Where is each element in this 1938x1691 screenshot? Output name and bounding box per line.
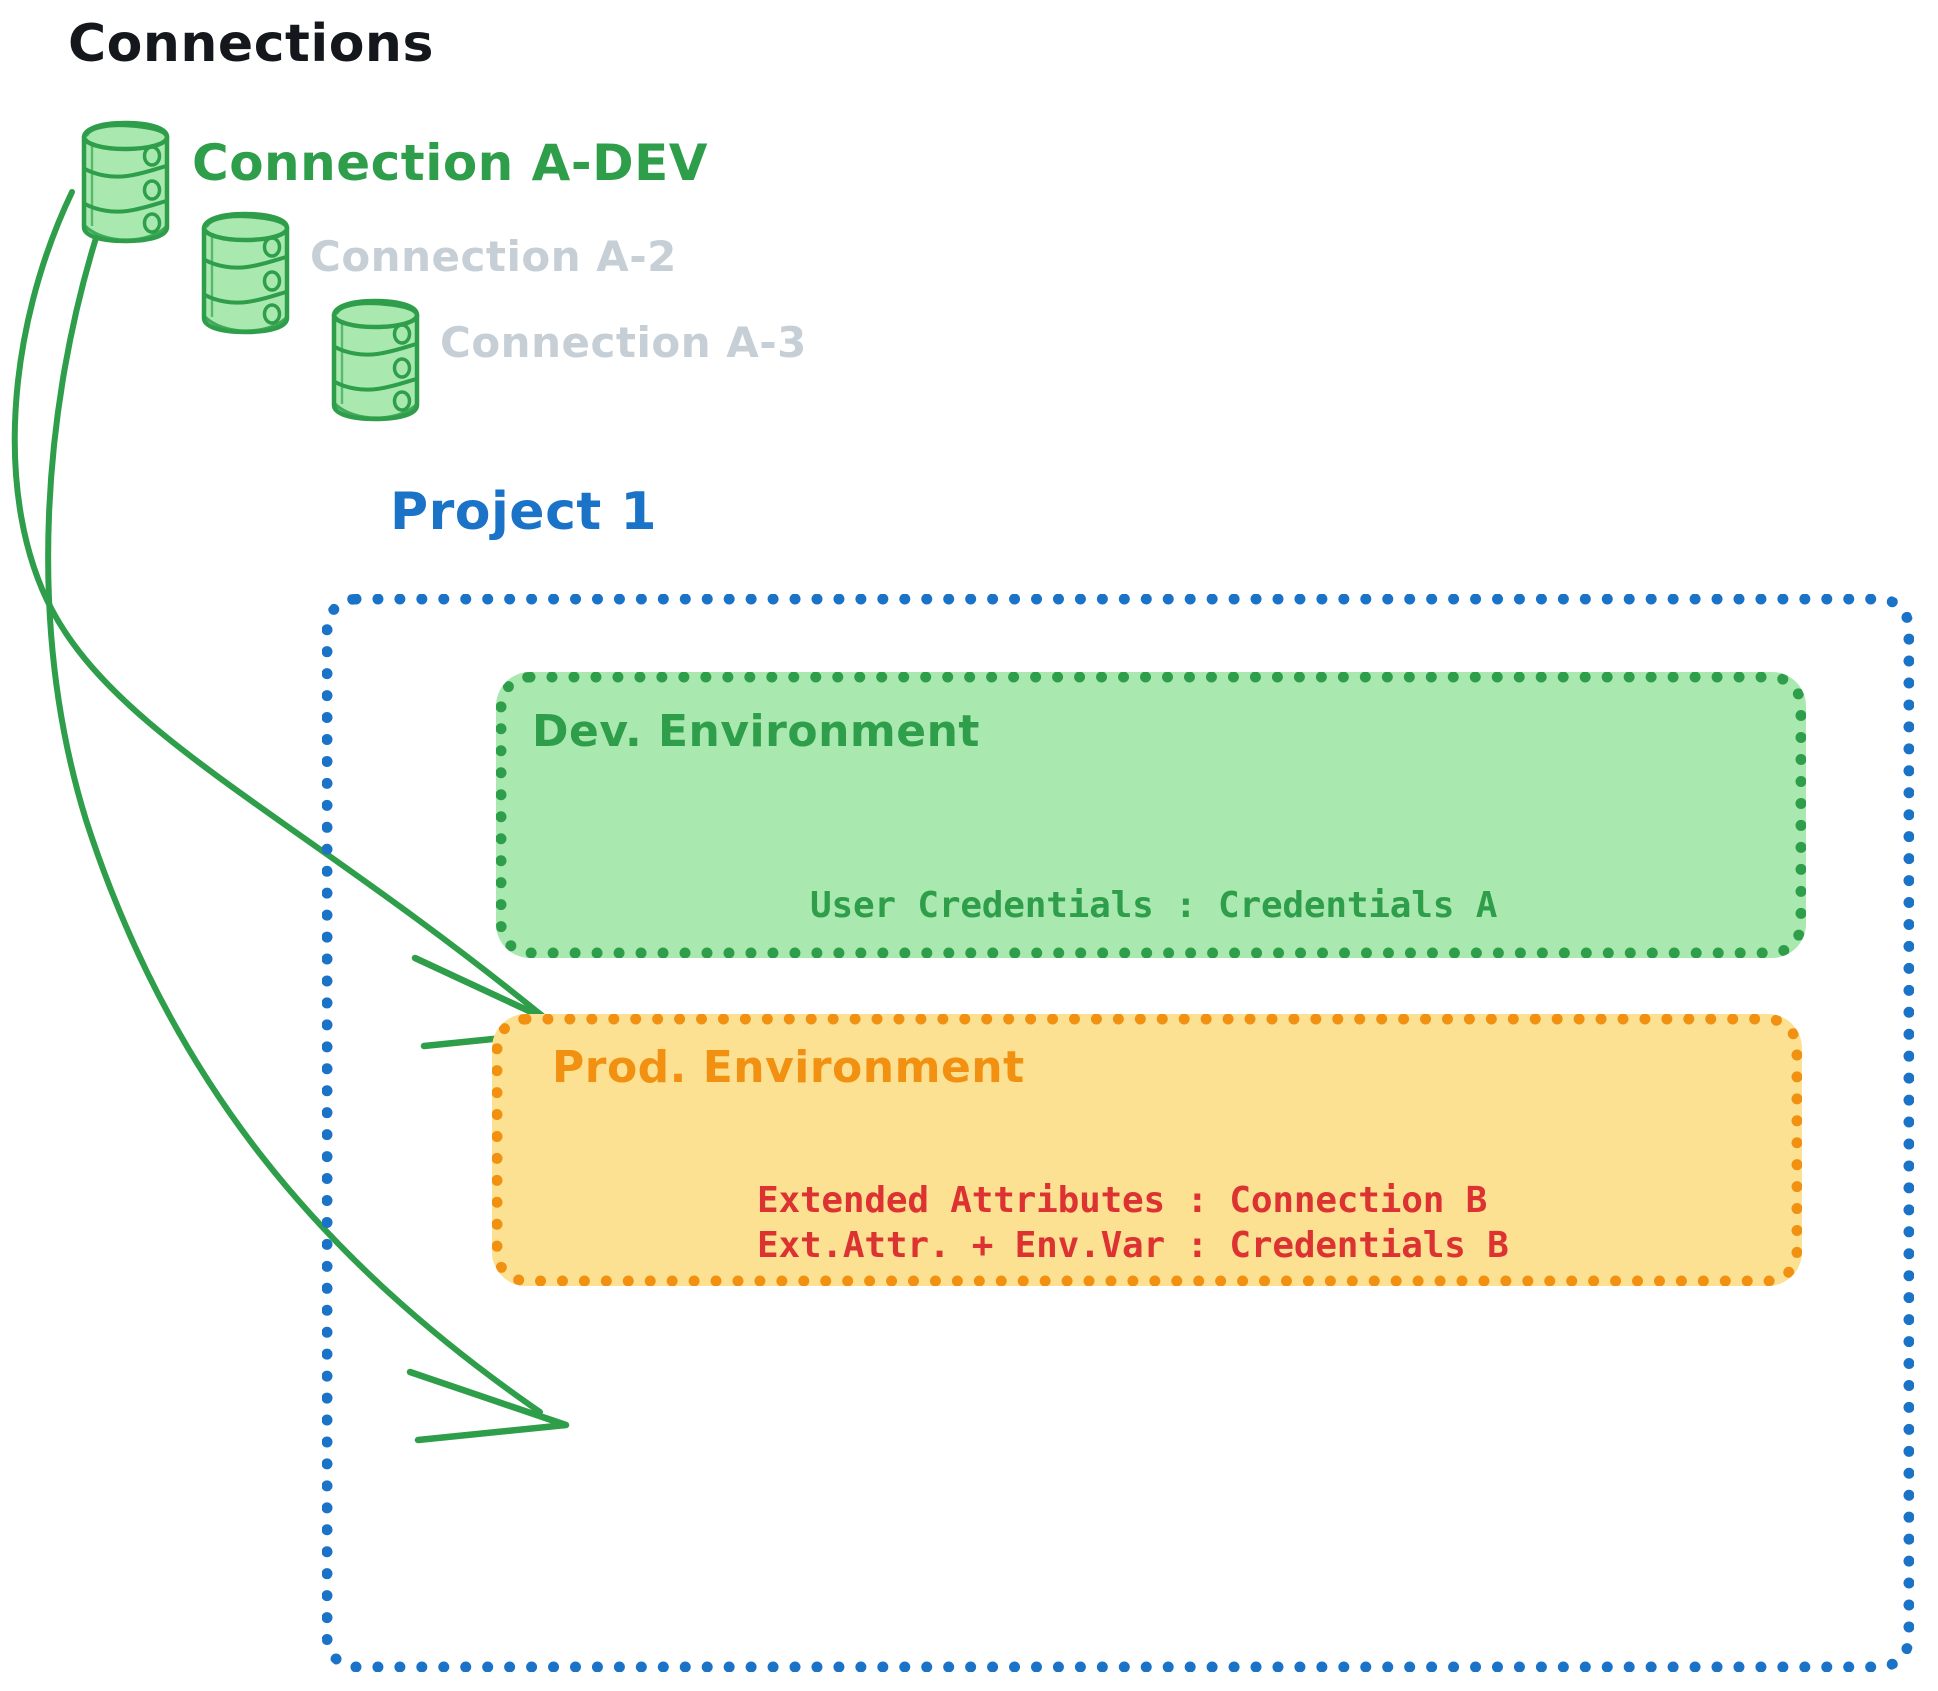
connection-label-a-2[interactable]: Connection A-2 — [310, 236, 677, 278]
prod-attributes-row-2: Ext.Attr. + Env.Var : Credentials B — [757, 1223, 1509, 1268]
page-title: Connections — [68, 18, 434, 70]
project-label: Project 1 — [390, 486, 657, 538]
database-icon-connection-a-3[interactable] — [332, 300, 417, 420]
database-icon-connection-a-2[interactable] — [202, 213, 287, 333]
prod-attributes-row-1: Extended Attributes : Connection B — [757, 1178, 1509, 1223]
connection-label-a-dev[interactable]: Connection A-DEV — [192, 138, 708, 188]
prod-attributes-rows: Extended Attributes : Connection B Ext.A… — [757, 1178, 1509, 1268]
dev-environment-title: Dev. Environment — [532, 710, 980, 754]
database-icon-connection-a-dev[interactable] — [82, 122, 167, 242]
connection-label-a-3[interactable]: Connection A-3 — [440, 322, 807, 364]
prod-environment-title: Prod. Environment — [552, 1046, 1025, 1090]
dev-credentials-row: User Credentials : Credentials A — [810, 883, 1497, 928]
